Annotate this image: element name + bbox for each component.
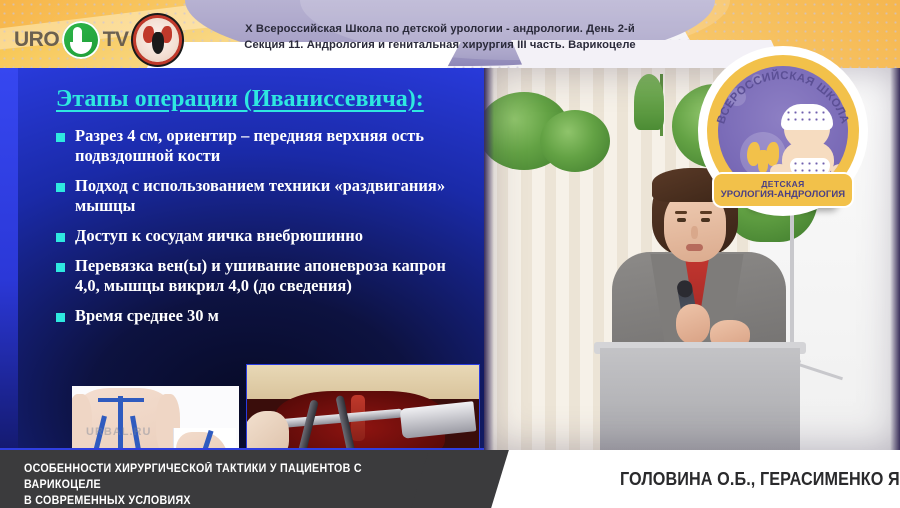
bullet-square-icon [56, 233, 65, 242]
presentation-slide: Этапы операции (Иваниссевича): Разрез 4 … [0, 68, 484, 450]
emblem-baby-illustration [772, 108, 846, 180]
event-title-line2: Секция 11. Андрология и генитальная хиру… [205, 38, 675, 54]
bullet-square-icon [56, 263, 65, 272]
emblem-banner-label: ДЕТСКАЯ УРОЛОГИЯ-АНДРОЛОГИЯ [714, 174, 852, 206]
emblem-banner-line1: ДЕТСКАЯ [714, 179, 852, 189]
emblem-banner-line2: УРОЛОГИЯ-АНДРОЛОГИЯ [714, 189, 852, 200]
slide-title: Этапы операции (Иваниссевича): [56, 86, 424, 113]
presentation-title-line2: В СОВРЕМЕННЫХ УСЛОВИЯХ [24, 493, 415, 508]
event-header-text: X Всероссийская Школа по детской урологи… [205, 22, 675, 53]
event-title-line1: X Всероссийская Школа по детской урологи… [205, 22, 675, 38]
surgical-retractor-right [400, 401, 477, 439]
bottom-dark-diagonal [411, 450, 509, 508]
play-circle-icon [62, 21, 100, 59]
urotv-logo[interactable]: URO TV [14, 16, 179, 64]
bullet-square-icon [56, 183, 65, 192]
bullet-text: Подход с использованием техники «раздвиг… [75, 176, 466, 216]
bullet-text: Доступ к сосудам яичка внебрюшинно [75, 226, 363, 246]
speaker-names: ГОЛОВИНА О.Б., ГЕРАСИМЕНКО Я.А. [620, 469, 900, 490]
school-emblem: ВСЕРОССИЙСКАЯ ШКОЛА ДЕТСКАЯ УРОЛОГИЯ-АНД… [700, 48, 866, 214]
slide-bullet-list: Разрез 4 см, ориентир – передняя верхняя… [56, 126, 466, 336]
bullet-square-icon [56, 133, 65, 142]
anatomy-watermark: URBAL.RU [86, 426, 151, 438]
surgical-photo [246, 364, 480, 450]
anatomy-detail-inset [173, 428, 236, 450]
kidney-emblem-icon [136, 18, 179, 62]
list-item: Подход с использованием техники «раздвиг… [56, 176, 466, 216]
logo-text-tv: TV [103, 28, 129, 52]
broadcast-screen: X Всероссийская Школа по детской урологи… [0, 0, 900, 508]
slide-left-accent-strip [0, 68, 18, 450]
bullet-text: Время среднее 30 м [75, 306, 219, 326]
bullet-square-icon [56, 313, 65, 322]
list-item: Перевязка вен(ы) и ушивание апоневроза к… [56, 256, 466, 296]
presentation-title-line1: ОСОБЕННОСТИ ХИРУРГИЧЕСКОЙ ТАКТИКИ У ПАЦИ… [24, 461, 415, 493]
list-item: Доступ к сосудам яичка внебрюшинно [56, 226, 466, 246]
list-item: Время среднее 30 м [56, 306, 466, 326]
anatomy-vein-main [118, 396, 123, 448]
bullet-text: Перевязка вен(ы) и ушивание апоневроза к… [75, 256, 466, 296]
bottom-lower-third: ОСОБЕННОСТИ ХИРУРГИЧЕСКОЙ ТАКТИКИ У ПАЦИ… [0, 450, 900, 508]
anatomy-diagram-image: URBAL.RU [72, 386, 239, 450]
bullet-text: Разрез 4 см, ориентир – передняя верхняя… [75, 126, 466, 166]
surgeon-glove [246, 411, 289, 450]
logo-text-uro: URO [14, 28, 59, 52]
presentation-title: ОСОБЕННОСТИ ХИРУРГИЧЕСКОЙ ТАКТИКИ У ПАЦИ… [24, 461, 415, 508]
list-item: Разрез 4 см, ориентир – передняя верхняя… [56, 126, 466, 166]
